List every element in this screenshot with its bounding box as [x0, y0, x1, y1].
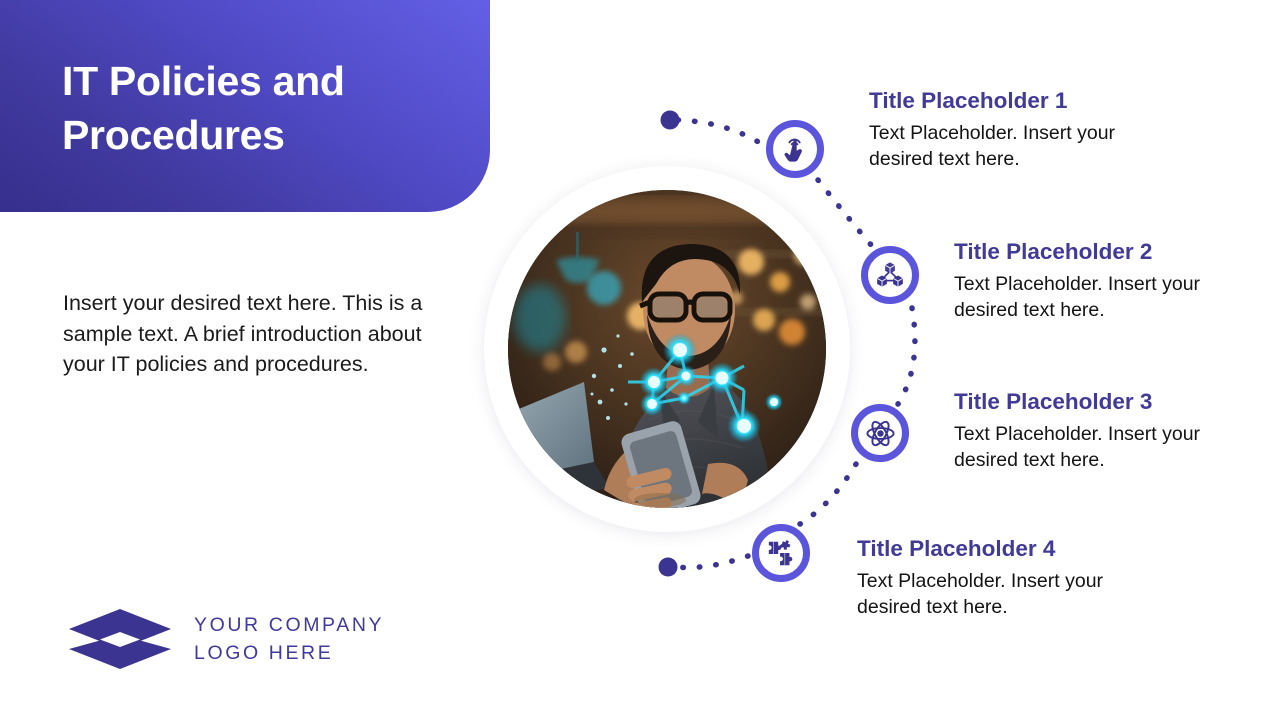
item-icon-3[interactable]: [851, 404, 909, 462]
page-title: IT Policies and Procedures: [62, 54, 462, 162]
item-body: Text Placeholder. Insert your desired te…: [954, 421, 1204, 473]
item-title: Title Placeholder 1: [869, 87, 1179, 114]
slide-canvas: IT Policies and Procedures Insert your d…: [0, 0, 1280, 720]
item-title: Title Placeholder 2: [954, 238, 1204, 265]
item-icon-4[interactable]: [752, 524, 810, 582]
stacked-layers-icon: [68, 608, 172, 670]
touch-tap-hand-icon: [780, 134, 810, 164]
title-banner: IT Policies and Procedures: [0, 0, 490, 212]
item-block-2: Title Placeholder 2 Text Placeholder. In…: [954, 238, 1204, 323]
item-title: Title Placeholder 3: [954, 388, 1204, 415]
logo-text: YOUR COMPANY LOGO HERE: [194, 611, 384, 668]
puzzle-pieces-icon: [766, 538, 796, 568]
path-endpoint-dot-top: [661, 111, 680, 130]
item-icon-1[interactable]: [766, 120, 824, 178]
item-block-1: Title Placeholder 1 Text Placeholder. In…: [869, 87, 1179, 172]
intro-paragraph: Insert your desired text here. This is a…: [63, 288, 445, 380]
path-endpoint-dot-bottom: [659, 558, 678, 577]
item-body: Text Placeholder. Insert your desired te…: [954, 271, 1204, 323]
item-body: Text Placeholder. Insert your desired te…: [857, 568, 1117, 620]
connected-cubes-network-icon: [875, 260, 905, 290]
item-block-4: Title Placeholder 4 Text Placeholder. In…: [857, 535, 1117, 620]
item-icon-2[interactable]: [861, 246, 919, 304]
company-logo: YOUR COMPANY LOGO HERE: [68, 608, 384, 670]
item-block-3: Title Placeholder 3 Text Placeholder. In…: [954, 388, 1204, 473]
item-title: Title Placeholder 4: [857, 535, 1117, 562]
atom-icon: [865, 418, 896, 449]
hero-photo: [508, 190, 826, 508]
item-body: Text Placeholder. Insert your desired te…: [869, 120, 1179, 172]
